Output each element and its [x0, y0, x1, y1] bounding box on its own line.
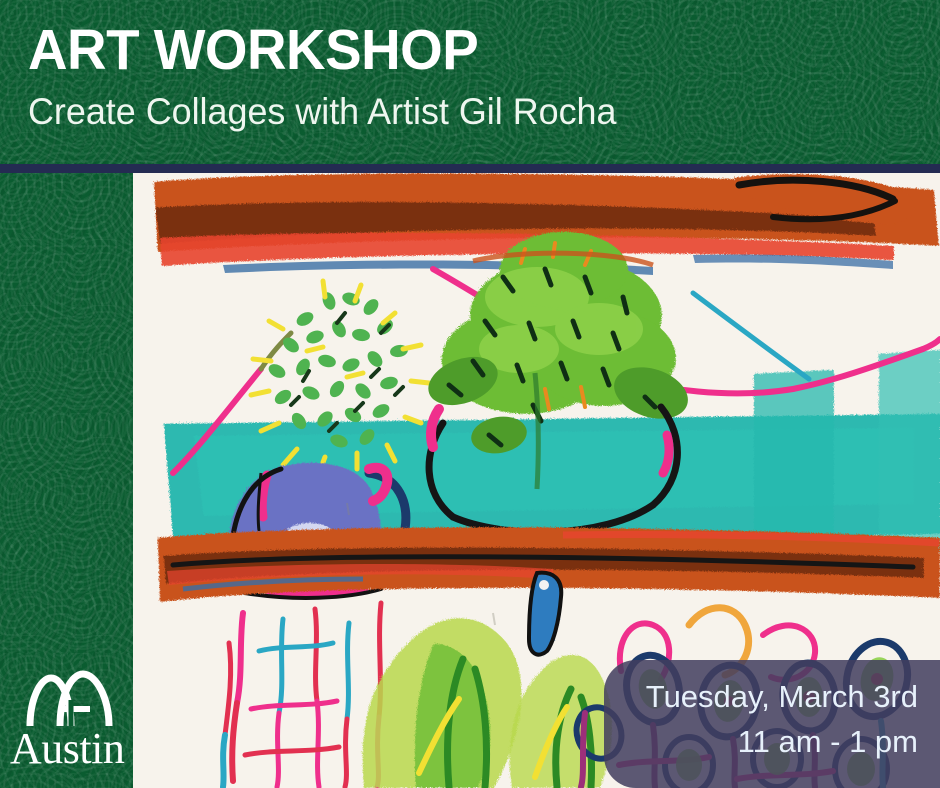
page-title: ART WORKSHOP [28, 20, 884, 80]
event-datetime-badge: Tuesday, March 3rd 11 am - 1 pm [604, 660, 940, 788]
austin-logo: Austin [10, 670, 128, 772]
austin-wordmark: Austin [10, 726, 128, 772]
austin-arch-icon [24, 670, 116, 728]
poster-header: ART WORKSHOP Create Collages with Artist… [0, 0, 940, 164]
poster-canvas: ART WORKSHOP Create Collages with Artist… [0, 0, 940, 788]
header-text-block: ART WORKSHOP Create Collages with Artist… [28, 20, 920, 135]
left-green-rail: Austin [0, 173, 133, 788]
event-date: Tuesday, March 3rd [604, 674, 918, 719]
page-subtitle: Create Collages with Artist Gil Rocha [28, 89, 893, 135]
header-divider [0, 164, 940, 173]
event-time: 11 am - 1 pm [604, 719, 918, 764]
